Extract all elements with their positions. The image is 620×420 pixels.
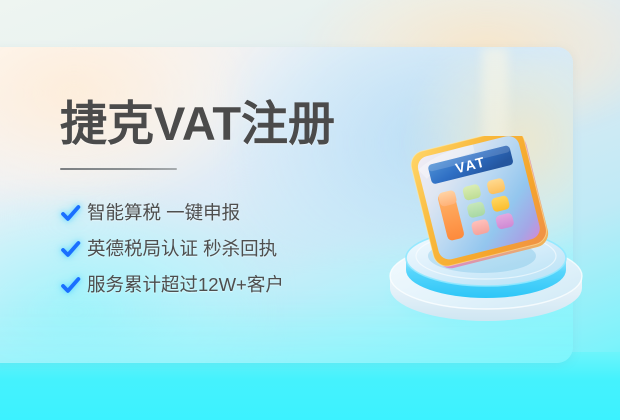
title-divider [60,168,177,170]
list-item: 智能算税 一键申报 [60,196,390,230]
check-icon [60,203,81,224]
page-title: 捷克VAT注册 [60,95,390,153]
feature-label: 服务累计超过12W+客户 [87,274,284,296]
vat-calculator-illustration: VAT [382,136,592,336]
list-item: 服务累计超过12W+客户 [60,268,390,302]
list-item: 英德税局认证 秒杀回执 [60,232,390,266]
vat-promo-banner: 捷克VAT注册 智能算税 一键申报 英德税局认证 秒杀回执 服务累计超过12W [0,0,620,420]
text-column: 捷克VAT注册 智能算税 一键申报 英德税局认证 秒杀回执 服务累计超过12W [60,95,390,318]
feature-label: 英德税局认证 秒杀回执 [87,238,277,260]
check-icon [60,239,81,260]
feature-list: 智能算税 一键申报 英德税局认证 秒杀回执 服务累计超过12W+客户 [60,196,390,302]
check-icon [60,275,81,296]
feature-label: 智能算税 一键申报 [87,202,240,224]
